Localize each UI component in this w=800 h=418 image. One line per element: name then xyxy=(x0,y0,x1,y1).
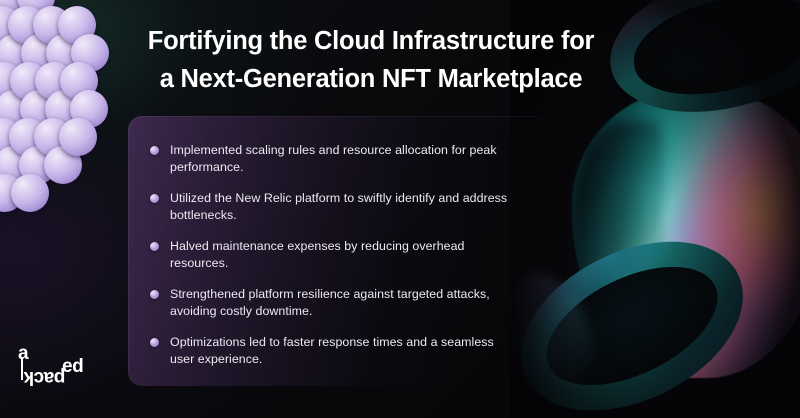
bullet-dot-icon xyxy=(150,338,159,347)
logo-letters-pack-rotated: pack xyxy=(24,368,65,387)
bullet-item: Utilized the New Relic platform to swift… xyxy=(150,190,510,223)
bullet-dot-icon xyxy=(150,194,159,203)
slide-title: Fortifying the Cloud Infrastructure for … xyxy=(118,22,624,98)
bullet-item: Halved maintenance expenses by reducing … xyxy=(150,238,510,271)
bullet-item: Optimizations led to faster response tim… xyxy=(150,334,510,367)
bullet-text: Implemented scaling rules and resource a… xyxy=(170,142,510,175)
decorative-sphere xyxy=(11,174,49,212)
bullet-text: Halved maintenance expenses by reducing … xyxy=(170,238,510,271)
slide-title-line-1: Fortifying the Cloud Infrastructure for xyxy=(118,22,624,60)
slide-title-line-2: a Next-Generation NFT Marketplace xyxy=(118,60,624,98)
bullet-item: Implemented scaling rules and resource a… xyxy=(150,142,510,175)
bullet-item: Strengthened platform resilience against… xyxy=(150,286,510,319)
bullet-text: Utilized the New Relic platform to swift… xyxy=(170,190,510,223)
bullet-text: Optimizations led to faster response tim… xyxy=(170,334,510,367)
bullet-dot-icon xyxy=(150,242,159,251)
alpacked-logo[interactable]: a ed pack xyxy=(18,344,104,396)
bullet-dot-icon xyxy=(150,146,159,155)
bullet-dot-icon xyxy=(150,290,159,299)
decorative-sphere xyxy=(59,118,97,156)
bullet-list: Implemented scaling rules and resource a… xyxy=(150,142,510,367)
slide-canvas: Fortifying the Cloud Infrastructure for … xyxy=(0,0,800,418)
logo-letter-l-stem xyxy=(21,358,24,380)
sphere-cluster-decoration xyxy=(0,0,116,216)
bullet-text: Strengthened platform resilience against… xyxy=(170,286,510,319)
